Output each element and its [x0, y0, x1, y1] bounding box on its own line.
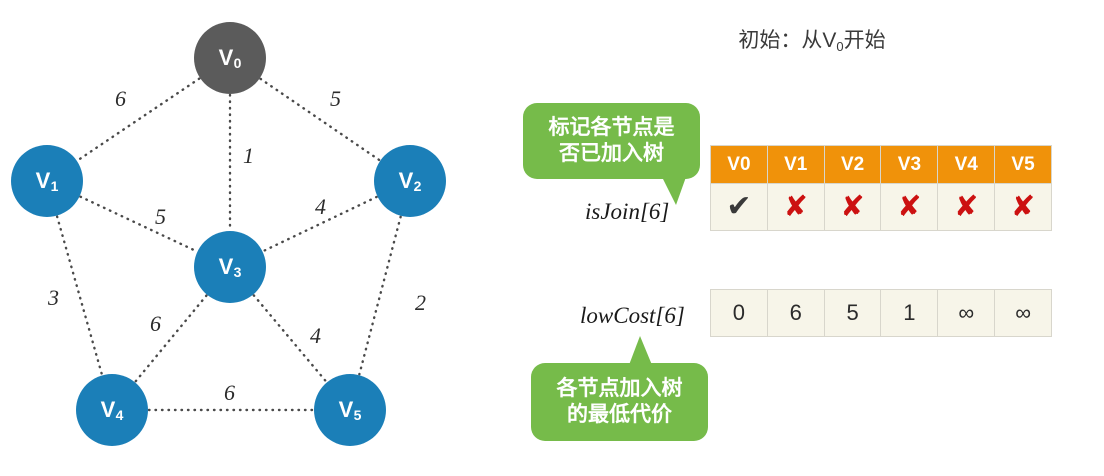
cross-icon: ✘ — [897, 191, 921, 223]
edge-weight-v3-v5: 4 — [310, 325, 321, 347]
lowcost-callout: 各节点加入树 的最低代价 — [531, 363, 708, 441]
graph-node-label: V — [101, 399, 116, 421]
table-header-row: V0V1V2V3V4V5 — [711, 146, 1052, 184]
title-vertex: V — [822, 29, 836, 52]
lowCost-cell-3: 1 — [881, 290, 938, 337]
edge-weight-v0-v2: 5 — [330, 88, 341, 110]
graph-node-v3[interactable]: V3 — [194, 231, 266, 303]
edge-weight-v2-v5: 2 — [415, 292, 426, 314]
lowcost-callout-line-2: 的最低代价 — [567, 402, 672, 428]
column-header-v5: V5 — [995, 146, 1052, 184]
lowcost-array-label: lowCost[6] — [580, 304, 685, 327]
graph-node-v5[interactable]: V5 — [314, 374, 386, 446]
cross-icon: ✘ — [954, 191, 978, 223]
isjoin-callout-line-2: 否已加入树 — [559, 141, 664, 167]
cross-icon: ✘ — [784, 191, 808, 223]
graph-node-subscript: 2 — [414, 179, 422, 193]
column-header-v1: V1 — [767, 146, 824, 184]
lowcost-callout-line-1: 各节点加入树 — [557, 376, 683, 402]
column-header-v0: V0 — [711, 146, 768, 184]
isjoin-array-label: isJoin[6] — [585, 200, 669, 223]
column-header-v4: V4 — [938, 146, 995, 184]
table-row: ✔✘✘✘✘✘ — [711, 184, 1052, 231]
check-icon: ✔ — [726, 190, 751, 223]
edge-weight-v2-v3: 4 — [315, 196, 326, 218]
graph-node-label: V — [219, 47, 234, 69]
isJoin-cell-3: ✘ — [881, 184, 938, 231]
lowcost-table: 0651∞∞ — [710, 289, 1052, 337]
lowCost-cell-2: 5 — [824, 290, 881, 337]
graph-node-v2[interactable]: V2 — [374, 145, 446, 217]
edge-weight-v0-v3: 1 — [243, 145, 254, 167]
graph-node-subscript: 0 — [234, 56, 242, 70]
title-prefix: 初始：从 — [738, 29, 822, 52]
column-header-v2: V2 — [824, 146, 881, 184]
graph-node-label: V — [219, 256, 234, 278]
edge-weight-v1-v3: 5 — [155, 206, 166, 228]
graph-node-subscript: 3 — [234, 265, 242, 279]
graph-edge-v2-v5 — [359, 217, 400, 374]
graph-node-v4[interactable]: V4 — [76, 374, 148, 446]
title-suffix: 开始 — [844, 29, 886, 52]
graph-edge-v1-v4 — [57, 217, 102, 375]
lowCost-cell-5: ∞ — [995, 290, 1052, 337]
graph-node-label: V — [36, 170, 51, 192]
isJoin-cell-0: ✔ — [711, 184, 768, 231]
graph-node-subscript: 1 — [51, 179, 59, 193]
page-title: 初始：从V0开始 — [520, 24, 1104, 54]
lowCost-cell-1: 6 — [767, 290, 824, 337]
graph-node-subscript: 4 — [116, 408, 124, 422]
isJoin-cell-4: ✘ — [938, 184, 995, 231]
cross-icon: ✘ — [840, 191, 864, 223]
graph-node-v1[interactable]: V1 — [11, 145, 83, 217]
edge-weight-v4-v5: 6 — [224, 382, 235, 404]
table-row: 0651∞∞ — [711, 290, 1052, 337]
graph-panel: V0V1V2V3V4V5 6515432646 — [0, 0, 520, 476]
explanation-panel: 初始：从V0开始 标记各节点是 否已加入树 各节点加入树 的最低代价 isJoi… — [520, 0, 1104, 476]
cross-icon: ✘ — [1011, 191, 1035, 223]
graph-edge-v0-v1 — [78, 79, 200, 161]
isJoin-cell-1: ✘ — [767, 184, 824, 231]
edge-weight-v1-v4: 3 — [48, 287, 59, 309]
lowCost-cell-4: ∞ — [938, 290, 995, 337]
graph-node-subscript: 5 — [354, 408, 362, 422]
edge-weight-v0-v1: 6 — [115, 88, 126, 110]
diagram-root: V0V1V2V3V4V5 6515432646 初始：从V0开始 标记各节点是 … — [0, 0, 1104, 476]
edge-weight-v3-v4: 6 — [150, 313, 161, 335]
isjoin-callout-line-1: 标记各节点是 — [549, 115, 675, 141]
graph-edge-v1-v3 — [80, 197, 196, 252]
graph-node-label: V — [339, 399, 354, 421]
graph-edge-v0-v2 — [261, 79, 380, 160]
lowCost-cell-0: 0 — [711, 290, 768, 337]
graph-edge-v3-v4 — [136, 296, 207, 382]
column-header-v3: V3 — [881, 146, 938, 184]
title-vertex-subscript: 0 — [836, 39, 843, 54]
isJoin-cell-5: ✘ — [995, 184, 1052, 231]
isjoin-table: V0V1V2V3V4V5✔✘✘✘✘✘ — [710, 145, 1052, 231]
isjoin-callout: 标记各节点是 否已加入树 — [523, 103, 700, 179]
isJoin-cell-2: ✘ — [824, 184, 881, 231]
lowcost-callout-tail — [624, 335, 658, 367]
graph-node-label: V — [399, 170, 414, 192]
graph-node-v0[interactable]: V0 — [194, 22, 266, 94]
